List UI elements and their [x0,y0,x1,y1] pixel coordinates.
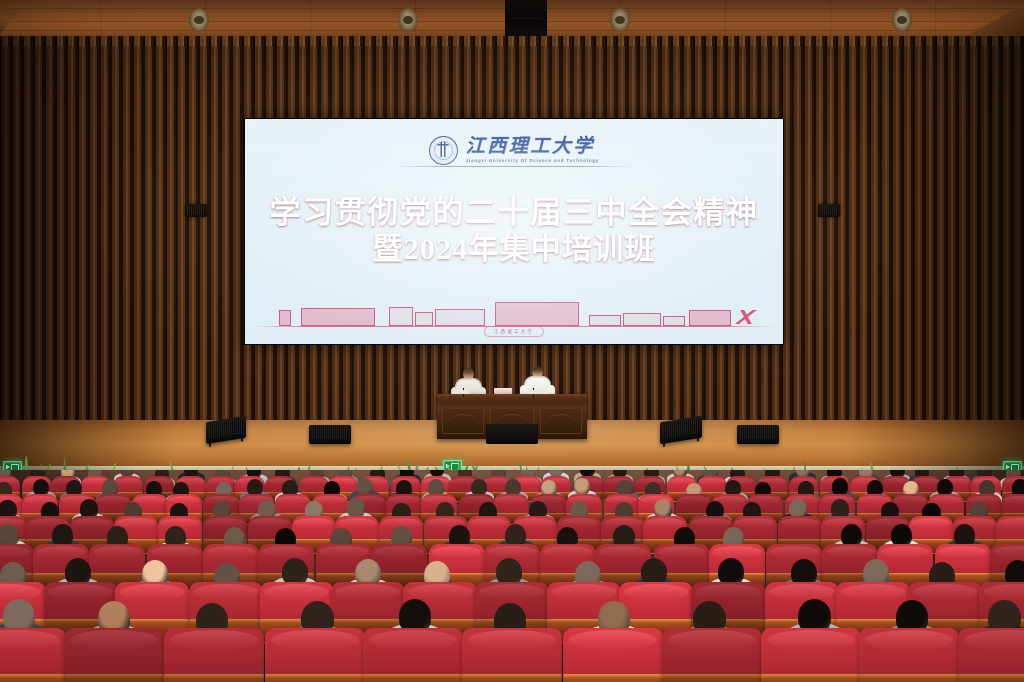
podium-front-unit [486,424,538,444]
skyline-building [435,309,485,326]
desk-papers-left [452,390,469,394]
projector-housing [505,0,547,38]
skyline-building [301,308,375,326]
projection-screen-frame: 江西理工大学 Jiangxi University Of Science and… [244,118,784,345]
skyline-building [389,307,413,326]
auditorium-seat [662,628,762,682]
desk-papers-right [527,390,549,394]
logo-divider [395,166,633,167]
projection-screen: 江西理工大学 Jiangxi University Of Science and… [245,119,783,344]
auditorium-seat [363,628,463,682]
ceiling-light-icon [892,8,912,32]
auditorium-seat [164,628,264,682]
stage-monitor-4 [737,425,779,444]
slide-title-line-2: 暨2024年集中培训班 [372,233,655,267]
audience-head [574,478,590,495]
slide-title-banner: 学习贯彻党的二十届三中全会精神 暨2024年集中培训班 [245,181,783,281]
skyline-building [589,315,621,326]
auditorium-seat [563,628,663,682]
auditorium-photo: 江西理工大学 Jiangxi University Of Science and… [0,0,1024,682]
audience-head [357,478,373,495]
university-name-en: Jiangxi University Of Science and Techno… [466,159,599,163]
skyline-caption: 江西理工大学 [484,326,544,337]
desk-flower-box [494,388,512,394]
auditorium-seat [958,628,1024,682]
auditorium-seat [462,628,562,682]
ceiling [0,0,1024,38]
auditorium-seat [859,628,959,682]
skyline-building [663,316,685,326]
stage-monitor-2 [309,425,351,444]
university-seal-icon [429,136,458,165]
auditorium-seat [265,628,365,682]
campus-skyline-graphic: 江西理工大学 [245,290,783,336]
skyline-building [689,310,731,326]
auditorium-seat [64,628,164,682]
ceiling-light-icon [610,8,630,32]
ceiling-light-icon [398,8,418,32]
auditorium-seat [0,628,66,682]
skyline-building [279,310,291,326]
skyline-building [415,312,433,326]
audience-seating [0,470,1024,682]
slide-title-line-1: 学习贯彻党的二十届三中全会精神 [270,196,759,231]
university-logo: 江西理工大学 Jiangxi University Of Science and… [245,129,783,171]
ceiling-light-icon [189,8,209,32]
airplane-icon [733,310,759,324]
skyline-building [495,302,579,326]
skyline-building [623,313,661,326]
auditorium-seat [761,628,861,682]
university-name-cn: 江西理工大学 [466,137,599,156]
